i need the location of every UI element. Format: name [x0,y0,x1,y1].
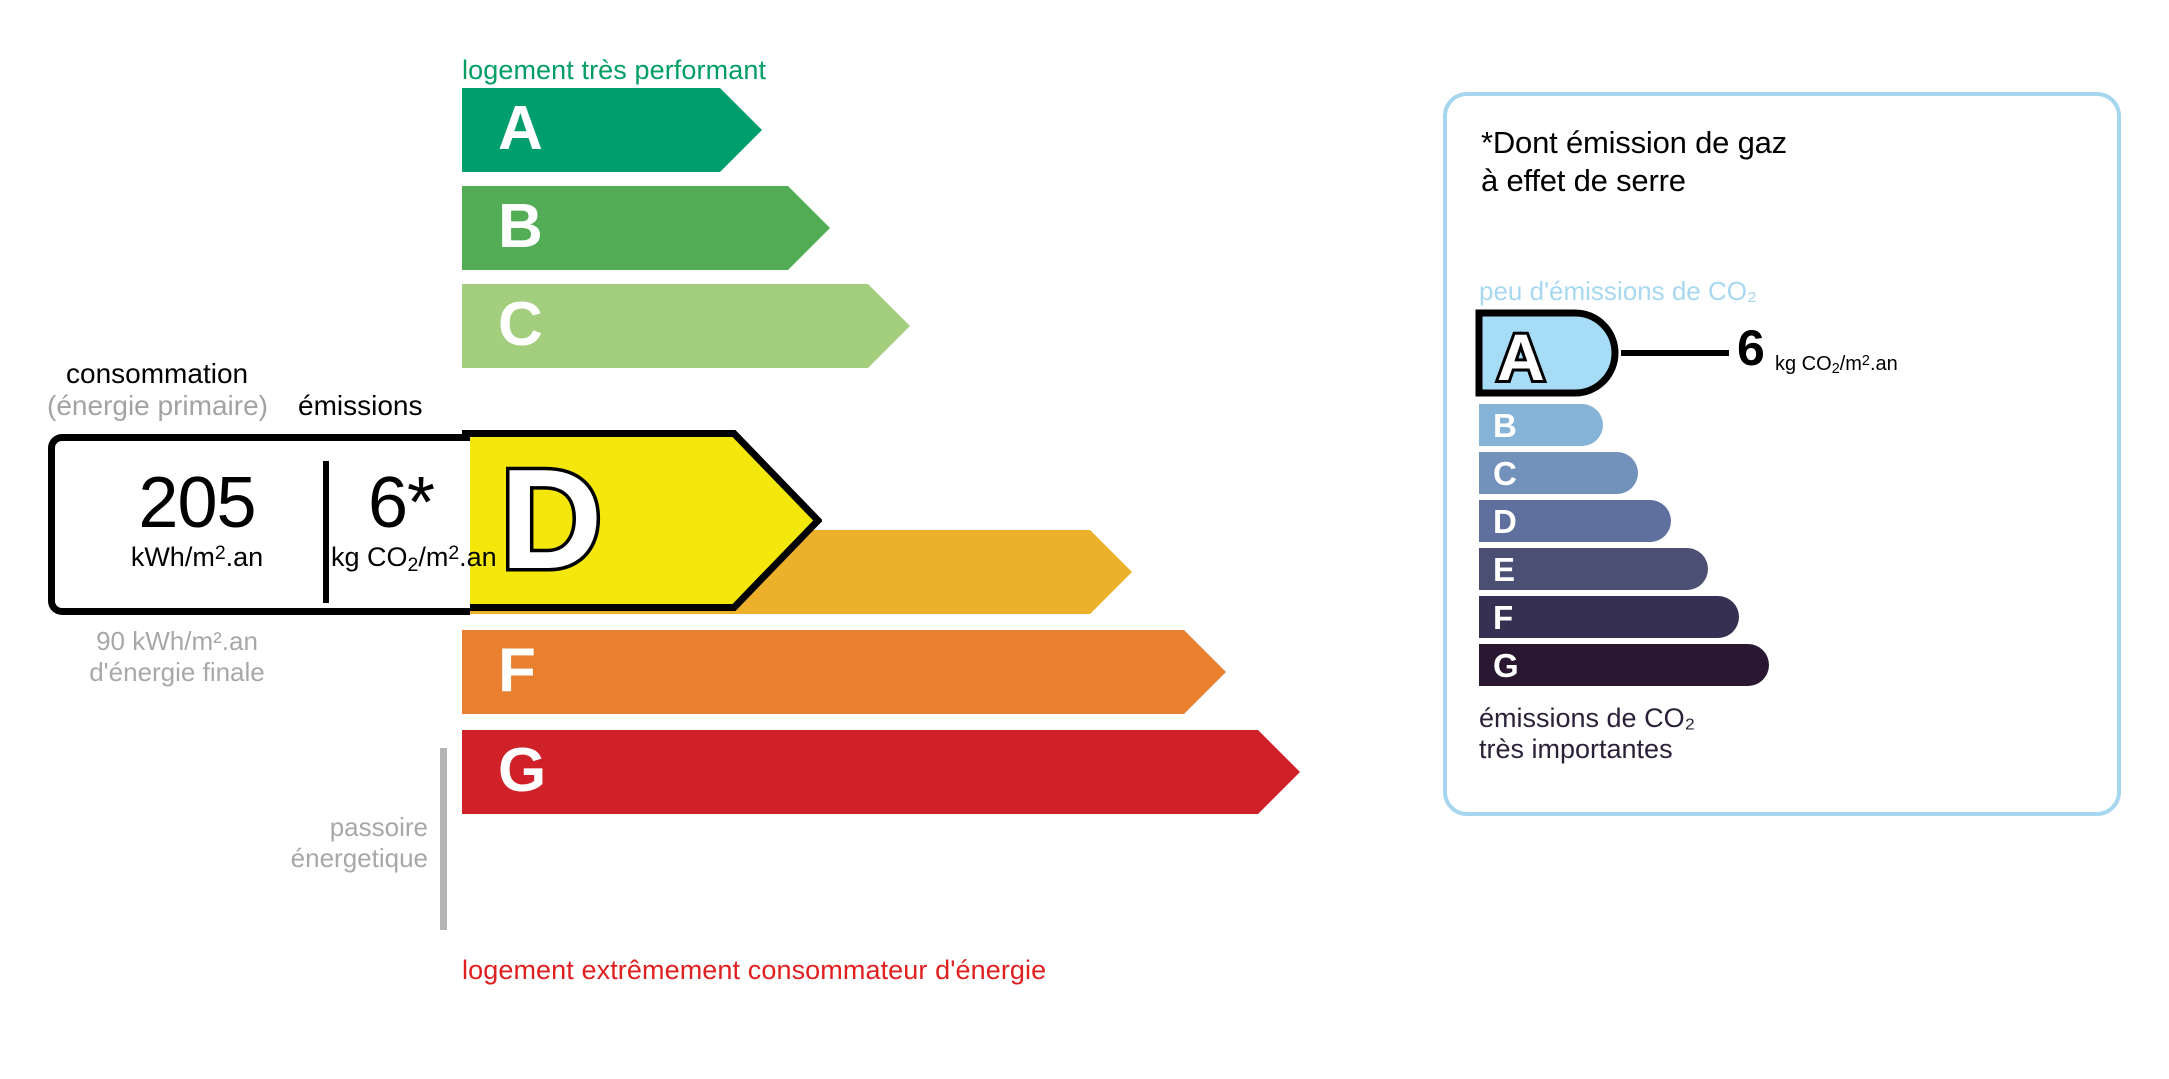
consumption-unit: kWh/m2.an [73,542,321,573]
co2-letter-e: E [1493,553,1515,586]
co2-letter-d: D [1493,505,1517,538]
co2-connector-line [1621,350,1729,356]
emission-value: 6* [331,467,471,540]
svg-text:A: A [1497,320,1545,394]
co2-bar-d: D [1479,500,1671,542]
scale-top-caption: logement très performant [462,55,766,86]
emission-unit-suffix: .an [459,542,497,572]
co2-bar-e: E [1479,548,1708,590]
co2-value: 6 [1737,323,1765,373]
co2-top-caption: peu d'émissions de CO₂ [1479,276,1757,307]
superscript-two: 2 [215,542,226,564]
subscript-two: 2 [408,554,419,576]
value-divider [323,461,329,603]
final-energy-note: 90 kWh/m².an d'énergie finale [57,626,297,687]
arrow-shape-g [462,730,1300,814]
co2-bar-g: G [1479,644,1769,686]
co2-panel-title: *Dont émission de gaz à effet de serre [1481,124,1787,200]
co2-panel: *Dont émission de gaz à effet de serre p… [1443,92,2121,816]
co2-unit-mid: /m [1840,353,1862,375]
co2-letter-b: B [1493,409,1517,442]
label-energie-primaire: (énergie primaire) [47,390,268,422]
emission-unit-mid: /m [418,542,448,572]
co2-bar-fill-f [1479,596,1739,638]
emission-unit: kg CO2/m2.an [331,542,471,573]
co2-unit: kg CO2/m2.an [1775,353,1898,376]
energy-scale-chart: logement très performant ABCEFG D consom… [0,0,1380,1079]
co2-letter-f: F [1493,601,1513,634]
co2-bottom-caption: émissions de CO₂ très importantes [1479,703,1695,766]
passoire-bracket [440,748,447,930]
co2-bar-b: B [1479,404,1603,446]
co2-row-current-a: A 6 kg CO2/m2.an [1475,309,1625,402]
scale-bottom-caption: logement extrêmement consommateur d'éner… [462,955,1046,986]
d-letter-outline: D [496,442,646,597]
arrow-letter-f: F [498,640,536,702]
emission-cell: 6* kg CO2/m2.an [331,467,471,573]
consumption-unit-suffix: .an [226,542,264,572]
arrow-letter-b: B [498,196,543,258]
arrow-letter-a: A [498,98,543,160]
consumption-cell: 205 kWh/m2.an [73,467,321,573]
value-box: 205 kWh/m2.an 6* kg CO2/m2.an [48,434,470,615]
svg-text:D: D [500,442,603,597]
arrow-letter-g: G [498,740,546,802]
label-consommation: consommation [66,358,248,390]
label-emissions: émissions [298,390,422,422]
co2-bar-f: F [1479,596,1739,638]
superscript-two: 2 [1862,353,1870,369]
co2-bar-c: C [1479,452,1638,494]
subscript-two: 2 [1832,361,1840,377]
arrow-letter-c: C [498,294,543,356]
emission-unit-prefix: kg CO [331,542,408,572]
co2-unit-prefix: kg CO [1775,353,1832,375]
consumption-unit-prefix: kWh/m [131,542,215,572]
passoire-label: passoire énergetique [200,812,428,873]
co2-bar-fill-g [1479,644,1769,686]
arrow-shape-f [462,630,1226,714]
dpe-label: logement très performant ABCEFG D consom… [0,0,2169,1079]
superscript-two: 2 [448,542,459,564]
co2-a-shape: A [1475,309,1625,397]
co2-unit-suffix: .an [1870,353,1898,375]
co2-letter-g: G [1493,649,1519,682]
energy-arrow-current-d: D [462,430,822,616]
consumption-value: 205 [73,467,321,540]
co2-letter-c: C [1493,457,1517,490]
